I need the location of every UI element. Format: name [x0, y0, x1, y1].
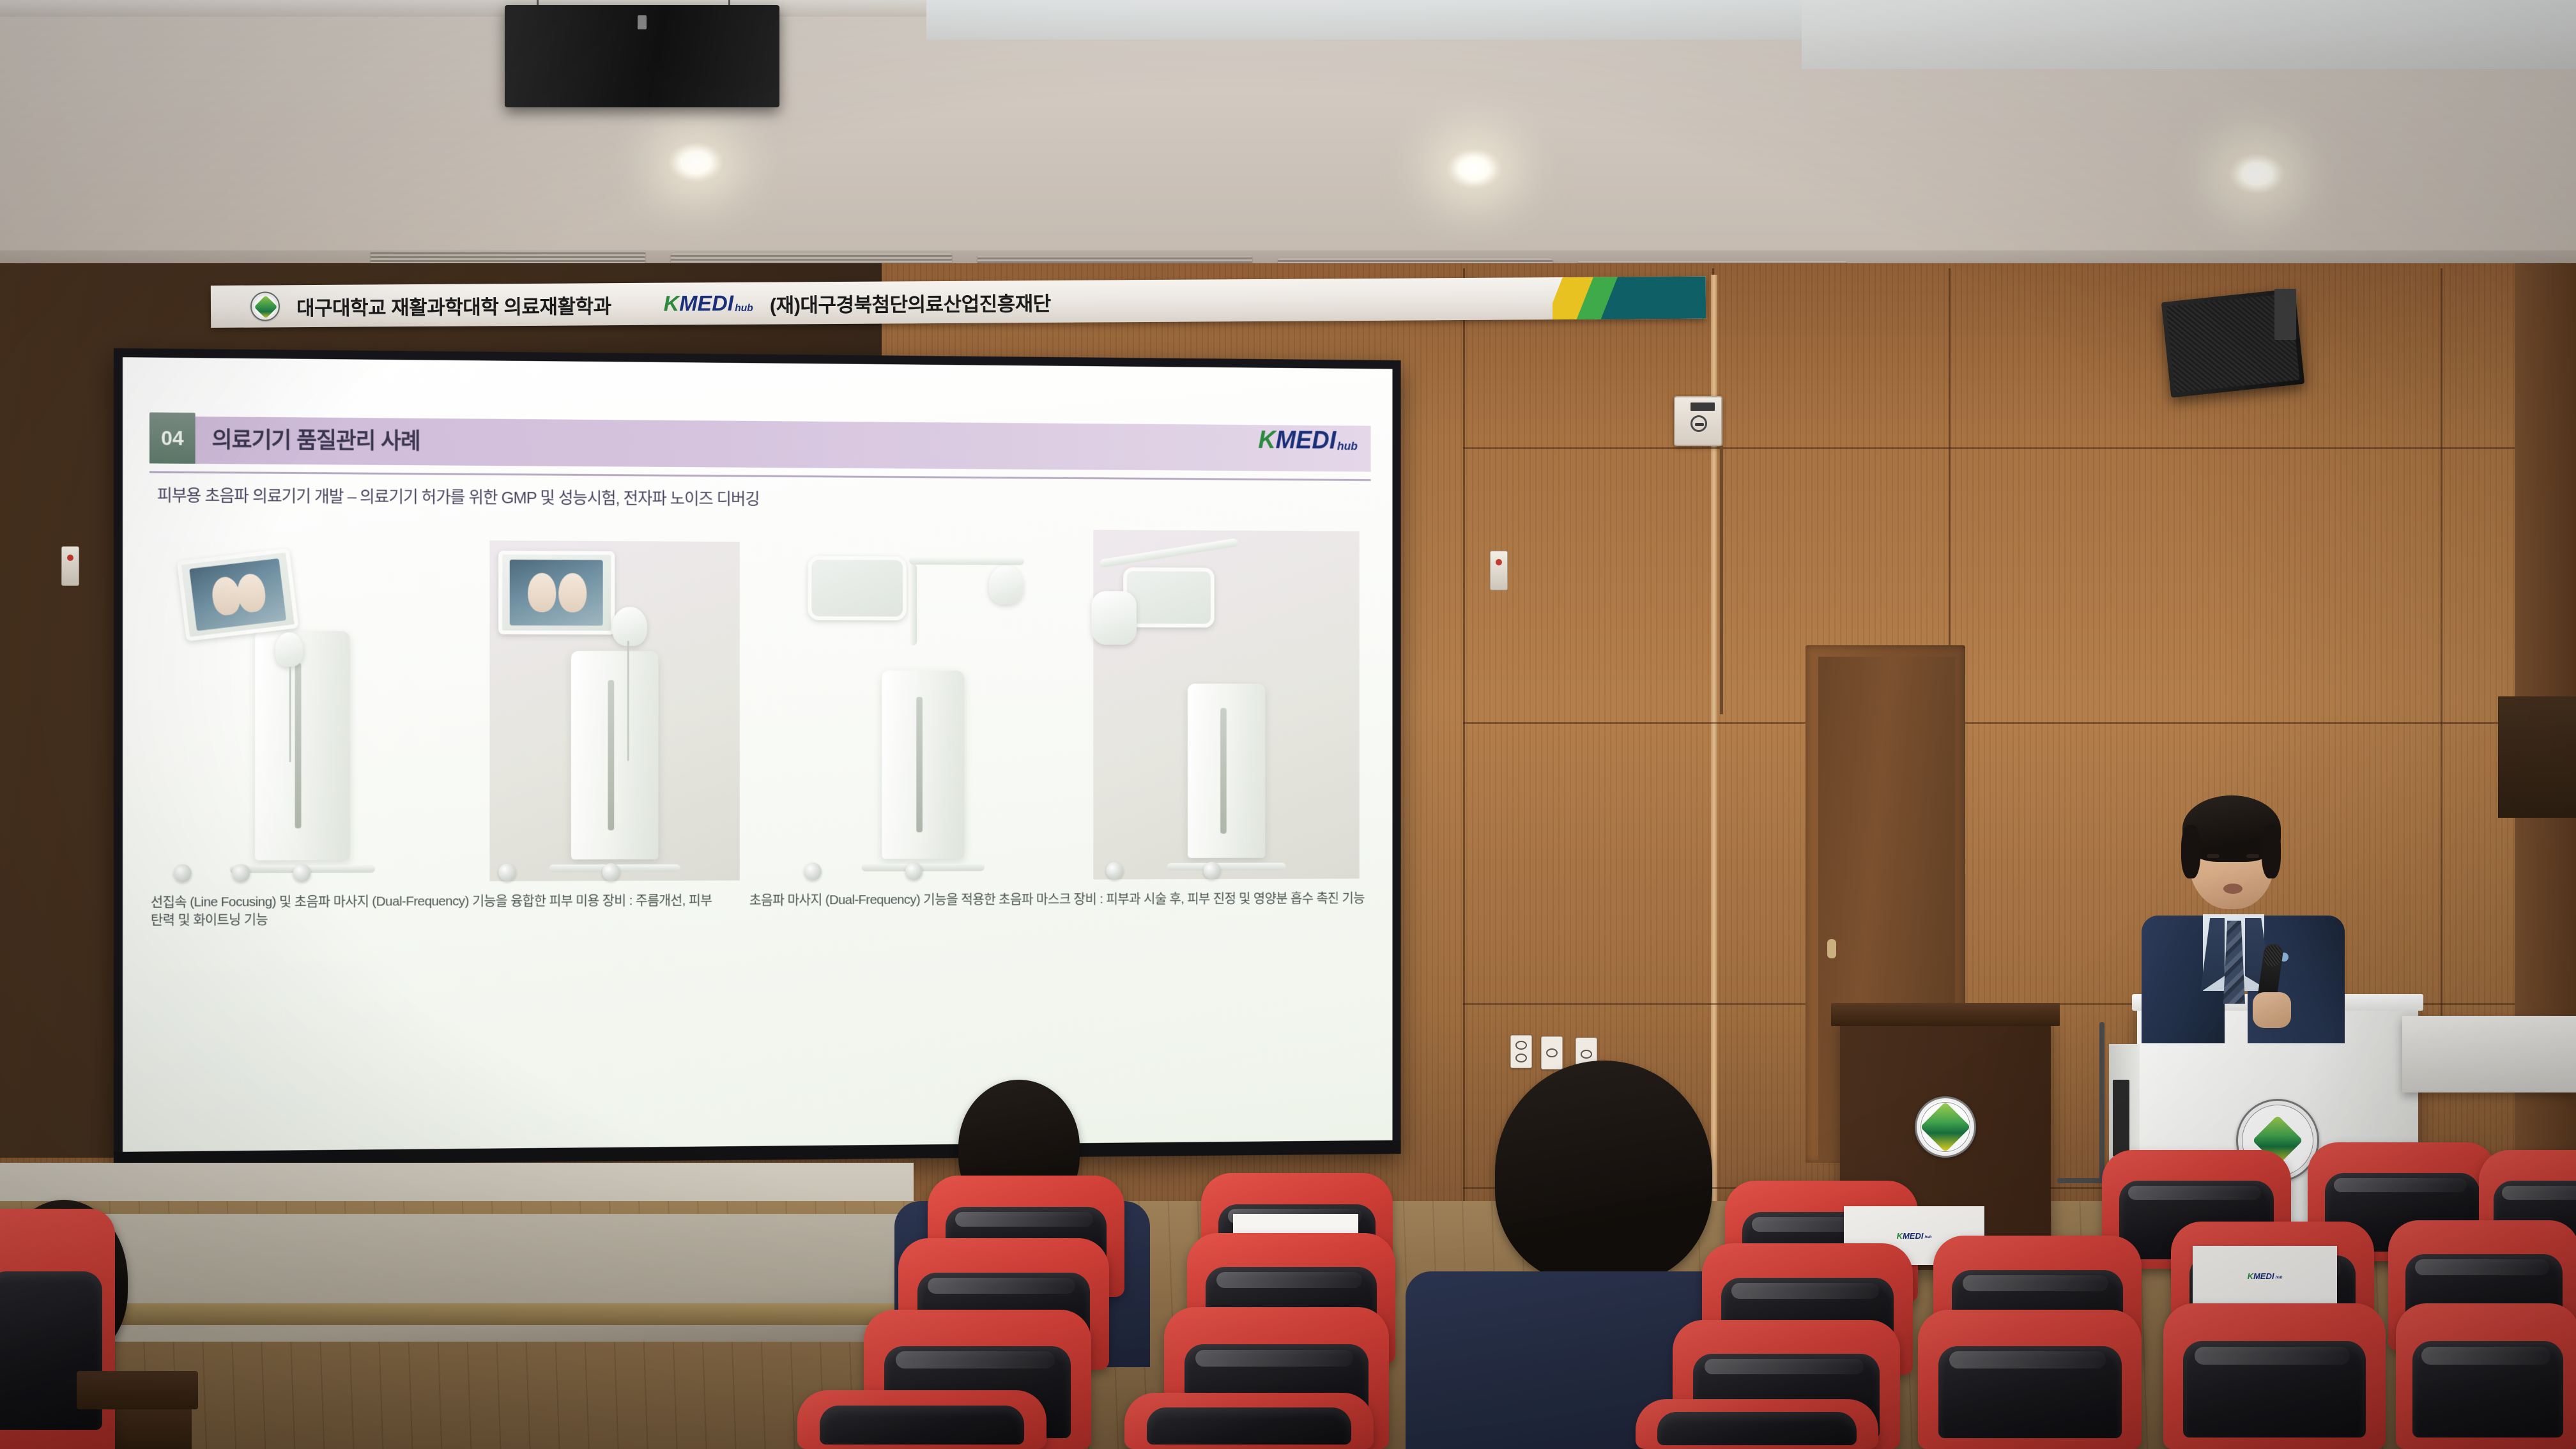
kmedi-hub-logo: KMEDIhub	[663, 293, 753, 315]
product-image-row	[151, 525, 1371, 882]
wall-panel-seam	[2441, 268, 2442, 1022]
slide-subtitle: 피부용 초음파 의료기기 개발 – 의료기기 허가를 위한 GMP 및 성능시험…	[157, 482, 1368, 513]
product-image-3	[776, 528, 1069, 880]
lectern-university-seal	[1915, 1096, 1976, 1158]
ceiling-downlight-icon	[1446, 148, 1501, 189]
device-cable	[289, 667, 291, 762]
device-touchscreen	[177, 548, 299, 641]
device-mask-applicator	[989, 565, 1023, 604]
side-table	[2402, 1016, 2576, 1092]
product-image-2	[466, 526, 763, 881]
air-vent-icon	[371, 250, 645, 264]
seat-leaflet[interactable]: KMEDIhub	[2193, 1246, 2337, 1306]
face-graphic-icon	[528, 573, 556, 613]
slide-title: 의료기기 품질관리 사례	[212, 422, 420, 456]
microphone-cable	[2099, 1022, 2104, 1182]
kmedi-logo-hub: hub	[735, 303, 753, 314]
device-caster-icon	[293, 864, 311, 882]
slide-divider	[149, 471, 1371, 481]
auditorium-seat[interactable]	[1124, 1393, 1374, 1449]
seat-highlight	[1949, 1351, 2106, 1368]
device-caster-icon	[232, 864, 250, 882]
device-arm-post	[909, 564, 917, 646]
device-overhead-arm	[909, 556, 1025, 565]
stage-edge-trim	[0, 1303, 939, 1325]
presentation-slide: 04 의료기기 품질관리 사례 KMEDIhub 피부용 초음파 의료기기 개발…	[123, 357, 1392, 1152]
slide-logo-medi: MEDI	[1276, 427, 1336, 453]
indicator-dot-icon	[1496, 559, 1502, 565]
seal-ring	[1920, 1102, 1970, 1152]
hanging-speaker-icon	[505, 5, 779, 107]
device-caster-icon	[905, 862, 923, 880]
control-panel-label-icon	[1690, 402, 1714, 411]
product-image-4	[1082, 530, 1371, 879]
slide-section-number: 04	[149, 412, 195, 463]
control-panel-button-icon[interactable]	[1690, 415, 1707, 432]
caption-left: 선집속 (Line Focusing) 및 초음파 마사지 (Dual-Freq…	[151, 892, 722, 930]
seat-highlight	[2421, 1347, 2550, 1364]
seat-highlight	[1216, 1272, 1362, 1287]
indicator-dot-icon	[67, 555, 73, 561]
device-top-housing	[1123, 567, 1215, 627]
device-body	[1188, 684, 1265, 858]
seat-highlight	[2334, 1178, 2466, 1192]
seat-highlight	[2415, 1259, 2549, 1275]
presenter-hair-side	[2262, 825, 2281, 878]
device-base	[1167, 862, 1286, 870]
seat-highlight	[1731, 1283, 1879, 1299]
seat-headrest	[1147, 1407, 1351, 1445]
right-wall-recess	[2498, 696, 2576, 818]
podium-equipment-slot	[2113, 1080, 2129, 1156]
device-cable	[627, 641, 629, 761]
presenter-mouth	[2223, 884, 2242, 894]
ceiling-soffit-right	[1802, 0, 2576, 69]
seat-headrest	[820, 1406, 1024, 1445]
auditorium-seat[interactable]	[0, 1209, 115, 1449]
device-handpiece	[275, 632, 303, 667]
seat-highlight	[1705, 1359, 1864, 1374]
slide-logo-k: K	[1258, 427, 1275, 452]
banner-color-stripe	[1552, 277, 1706, 319]
leaflet-kmedi-logo: KMEDIhub	[1897, 1232, 1932, 1240]
screen-content-image	[509, 560, 603, 625]
seat-highlight	[2128, 1186, 2260, 1200]
auditorium-seat[interactable]	[1918, 1310, 2142, 1449]
projection-screen: 04 의료기기 품질관리 사례 KMEDIhub 피부용 초음파 의료기기 개발…	[114, 348, 1401, 1166]
device-body	[571, 651, 659, 860]
leaflet-logo-medi: MEDI	[2253, 1272, 2274, 1280]
outlet-slot-icon	[1515, 1054, 1527, 1062]
seat-highlight	[2502, 1186, 2576, 1200]
lectern-top	[1831, 1003, 2060, 1026]
outlet-slot-icon	[1546, 1048, 1558, 1057]
leaflet-kmedi-logo: KMEDIhub	[2248, 1272, 2283, 1280]
power-outlet-icon	[1510, 1035, 1532, 1068]
device-caster-icon	[174, 864, 192, 882]
banner-right-org: (재)대구경북첨단의료산업진흥재단	[770, 287, 1051, 318]
seat-highlight	[1963, 1275, 2108, 1291]
seat-highlight	[955, 1212, 1093, 1227]
seat-armrest	[77, 1371, 198, 1409]
emergency-light-icon	[1490, 551, 1508, 590]
auditorium-seat[interactable]	[797, 1390, 1046, 1449]
presenter-hand	[2253, 992, 2291, 1028]
device-top-housing	[808, 556, 906, 620]
slide-kmedi-logo: KMEDIhub	[1258, 427, 1358, 453]
device-caster-icon	[1203, 862, 1220, 879]
auditorium-photo: 대구대학교 재활과학대학 의료재활학과 KMEDIhub (재)대구경북첨단의료…	[0, 0, 2576, 1449]
device-caster-icon	[602, 863, 619, 881]
wall-panel-seam	[1463, 447, 2576, 449]
emergency-light-icon	[61, 546, 79, 586]
speaker-badge-icon	[638, 15, 647, 29]
kmedi-logo-k: K	[663, 293, 679, 315]
attendee-head	[1495, 1061, 1712, 1284]
leaflet-logo-k: K	[1897, 1232, 1903, 1240]
wall-control-panel[interactable]	[1674, 396, 1722, 446]
product-image-1	[151, 525, 453, 882]
banner-left-org: 대구대학교 재활과학대학 의료재활학과	[296, 290, 611, 321]
device-body	[882, 670, 964, 859]
slide-logo-hub: hub	[1337, 441, 1358, 452]
auditorium-seat[interactable]	[2163, 1303, 2386, 1449]
presenter-eye	[2246, 854, 2259, 858]
device-caster-icon	[804, 862, 822, 880]
caption-row: 선집속 (Line Focusing) 및 초음파 마사지 (Dual-Freq…	[151, 890, 1371, 930]
ceiling-downlight-icon	[668, 142, 723, 183]
wall-panel-seam	[1463, 268, 1465, 1207]
door-handle-icon[interactable]	[1827, 939, 1836, 958]
ceiling-downlight-icon	[2230, 153, 2285, 194]
leaflet-logo-hub: hub	[2275, 1276, 2282, 1280]
device-mask-applicator	[1091, 591, 1137, 645]
device-touchscreen	[498, 551, 615, 634]
presenter	[2127, 795, 2370, 1025]
auditorium-seat[interactable]	[1636, 1399, 1878, 1449]
microphone-cable	[2057, 1178, 2107, 1183]
auditorium-seat[interactable]	[2396, 1303, 2576, 1449]
caption-right: 초음파 마사지 (Dual-Frequency) 기능을 적용한 초음파 마스크…	[749, 890, 1371, 927]
speaker-mount-bracket	[2274, 289, 2296, 340]
presenter-eye	[2207, 854, 2219, 858]
device-body	[255, 631, 350, 861]
seat-highlight	[896, 1351, 1055, 1368]
power-outlet-icon	[1541, 1036, 1563, 1069]
leaflet-logo-medi: MEDI	[1903, 1232, 1924, 1240]
face-graphic-icon	[558, 573, 586, 613]
leaflet-logo-hub: hub	[1924, 1236, 1931, 1239]
presenter-hair-side	[2181, 825, 2200, 878]
device-base	[861, 864, 984, 871]
seat-headrest	[1657, 1412, 1857, 1445]
daegu-university-seal-icon	[250, 291, 280, 321]
outlet-slot-icon	[1515, 1041, 1527, 1050]
device-caster-icon	[1106, 862, 1123, 879]
daegu-university-seal-icon	[1915, 1096, 1976, 1158]
outlet-slot-icon	[1581, 1050, 1592, 1059]
device-caster-icon	[498, 863, 516, 881]
screen-surface: 04 의료기기 품질관리 사례 KMEDIhub 피부용 초음파 의료기기 개발…	[123, 357, 1392, 1152]
wall-conduit	[1720, 446, 1723, 714]
kmedi-logo-medi: MEDI	[679, 293, 733, 315]
seat-highlight	[928, 1278, 1075, 1294]
wall-panel-seam	[1463, 722, 2576, 724]
seat-highlight	[1195, 1350, 1353, 1367]
seat-highlight	[2195, 1347, 2350, 1364]
device-handpiece	[612, 607, 647, 646]
leaflet-logo-k: K	[2248, 1272, 2253, 1280]
